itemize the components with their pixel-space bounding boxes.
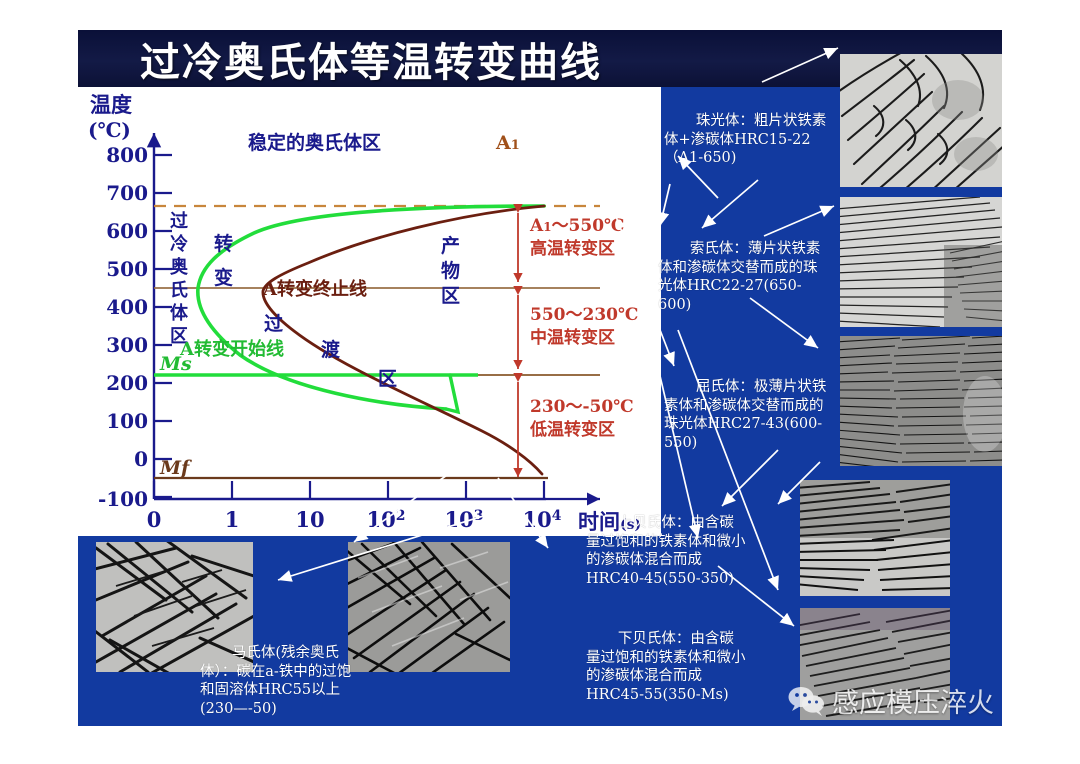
arrow-to-upper-bainite-text xyxy=(722,450,778,506)
label-start-line: A转变开始线 xyxy=(179,338,284,360)
zone-1-name: 中温转变区 xyxy=(530,327,615,348)
svg-text:产: 产 xyxy=(441,234,460,257)
svg-text:变: 变 xyxy=(214,266,233,289)
label-finish-line: A转变终止线 xyxy=(262,278,367,300)
svg-text:过: 过 xyxy=(170,210,188,232)
sorbite-micrograph xyxy=(840,197,1002,327)
svg-text:渡: 渡 xyxy=(321,338,341,361)
zone-2-range: 230～‐50℃ xyxy=(530,397,634,417)
y-tick-300: 300 xyxy=(106,333,148,357)
y-tick-0: 0 xyxy=(134,447,148,471)
svg-text:区: 区 xyxy=(378,368,397,390)
y-tick-700: 700 xyxy=(106,181,148,205)
arrow-to-sorbite-image xyxy=(764,206,834,236)
svg-text:奥: 奥 xyxy=(170,256,189,278)
label-mf: Mf xyxy=(159,457,192,479)
y-axis-title-line1: 温度 xyxy=(90,92,132,117)
x-tick-0: 0 xyxy=(147,507,162,532)
svg-text:转: 转 xyxy=(214,232,233,255)
annotation-troostite: 屈氏体：极薄片状铁素体和渗碳体交替而成的珠光体HRC27-43(600-550) xyxy=(664,378,832,452)
martensite-micrograph-2 xyxy=(348,542,510,672)
y-tick-100: 100 xyxy=(106,409,148,433)
pearlite-micrograph xyxy=(840,54,1002,187)
arrow-to-sorbite-text-a xyxy=(660,184,670,226)
troostite-micrograph xyxy=(840,336,1002,466)
zone-2-name: 低温转变区 xyxy=(529,419,615,440)
lower-bainite-micrograph xyxy=(800,608,950,720)
svg-text:物: 物 xyxy=(441,259,460,282)
annotation-pearlite: 珠光体：粗片状铁素体+渗碳体HRC15-22（A1-650) xyxy=(664,112,832,168)
y-tick-200: 200 xyxy=(106,371,148,395)
annotation-upper-bainite: 上贝氏体：由含碳量过饱和的铁素体和微小的渗碳体混合而成HRC40-45(550-… xyxy=(586,514,746,588)
zone-0-name: 高温转变区 xyxy=(530,238,615,259)
slide-canvas: 过冷奥氏体等温转变曲线 xyxy=(78,30,1002,726)
y-tick-400: 400 xyxy=(106,295,148,319)
ttt-chart-panel: 800 700 600 500 400 300 200 100 0 -100 温… xyxy=(78,87,661,536)
upper-bainite-micrograph xyxy=(800,480,950,596)
annotation-sorbite: 索氏体：薄片状铁素体和渗碳体交替而成的珠光体HRC22-27(650-600) xyxy=(658,240,830,314)
svg-text:氏: 氏 xyxy=(170,280,188,301)
label-ms: Ms xyxy=(159,353,192,375)
svg-text:冷: 冷 xyxy=(170,233,188,255)
svg-text:体: 体 xyxy=(170,302,189,324)
label-product-zone: 产物区 xyxy=(441,234,460,307)
zone-1-range: 550～230℃ xyxy=(530,305,638,325)
svg-text:过: 过 xyxy=(264,313,283,335)
y-tick-800: 800 xyxy=(106,143,148,167)
x-tick-1: 1 xyxy=(225,507,240,532)
x-tick-10: 10 xyxy=(295,507,324,532)
label-stable-austenite: 稳定的奥氏体区 xyxy=(248,131,381,154)
arrow-to-sorbite-text-b xyxy=(702,180,758,228)
svg-text:区: 区 xyxy=(441,285,460,307)
y-tick-neg100: -100 xyxy=(98,487,148,511)
y-axis-title-line2: (℃) xyxy=(88,118,131,142)
y-tick-600: 600 xyxy=(106,219,148,243)
y-tick-500: 500 xyxy=(106,257,148,281)
annotation-lower-bainite: 下贝氏体：由含碳量过饱和的铁素体和微小的渗碳体混合而成HRC45-55(350-… xyxy=(586,630,746,704)
annotation-martensite: 马氏体(残余奥氏体）：碳在a-铁中的过饱和固溶体HRC55以上(230—-50) xyxy=(200,644,362,718)
